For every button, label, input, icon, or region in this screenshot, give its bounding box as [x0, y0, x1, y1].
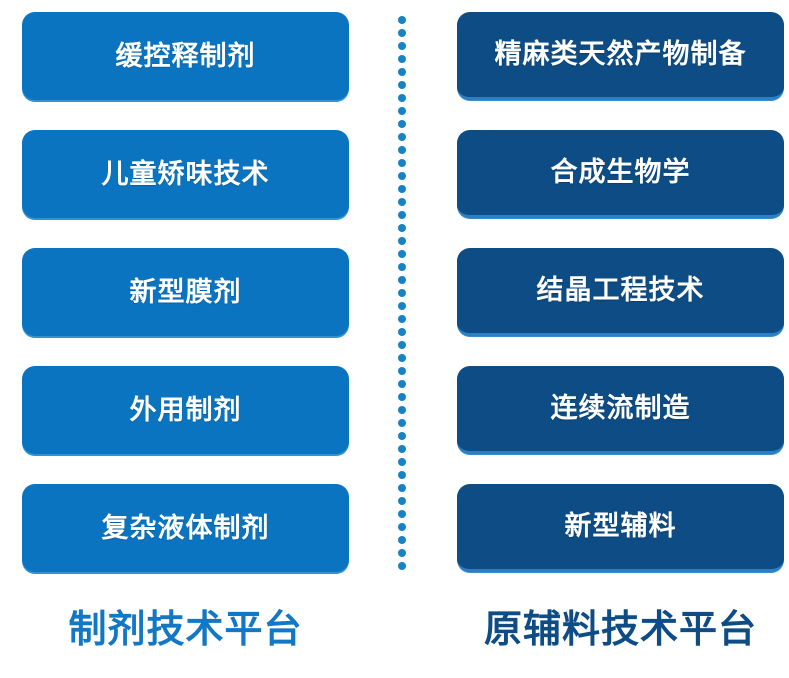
node-stack-right: 精麻类天然产物制备 合成生物学 结晶工程技术 连续流制造 新型辅料 [457, 12, 784, 572]
divider-dot [398, 198, 406, 206]
node-left-1-label: 缓控释制剂 [116, 39, 256, 74]
node-left-2[interactable]: 儿童矫味技术 [22, 130, 349, 218]
divider-dot [398, 159, 406, 167]
divider-dot [398, 133, 406, 141]
title-formulation-technology-platform: 制剂技术平台 [22, 598, 349, 653]
divider-dot [398, 562, 406, 570]
divider-dot [398, 107, 406, 115]
divider-dot [398, 510, 406, 518]
divider-dot [398, 120, 406, 128]
divider-dot [398, 536, 406, 544]
node-right-4[interactable]: 连续流制造 [457, 366, 784, 454]
divider-dot [398, 224, 406, 232]
divider-dot [398, 68, 406, 76]
divider-dot [398, 380, 406, 388]
divider-dot [398, 471, 406, 479]
node-left-1[interactable]: 缓控释制剂 [22, 12, 349, 100]
divider-dot [398, 497, 406, 505]
divider-dot [398, 211, 406, 219]
node-left-5-label: 复杂液体制剂 [102, 511, 270, 546]
divider-dot [398, 315, 406, 323]
divider-dot [398, 172, 406, 180]
title-raw-and-excipient-technology-platform: 原辅料技术平台 [448, 598, 789, 653]
divider-dot [398, 367, 406, 375]
divider-dot [398, 250, 406, 258]
divider-dot [398, 29, 406, 37]
dotted-vertical-divider [398, 16, 406, 566]
node-right-2-label: 合成生物学 [551, 155, 691, 190]
divider-dot [398, 445, 406, 453]
divider-dot [398, 276, 406, 284]
divider-dot [398, 55, 406, 63]
divider-dot [398, 42, 406, 50]
divider-dot [398, 354, 406, 362]
node-left-4[interactable]: 外用制剂 [22, 366, 349, 454]
node-left-5[interactable]: 复杂液体制剂 [22, 484, 349, 572]
node-right-1-label: 精麻类天然产物制备 [495, 37, 747, 72]
node-right-2[interactable]: 合成生物学 [457, 130, 784, 218]
divider-dot [398, 263, 406, 271]
node-left-4-label: 外用制剂 [130, 393, 242, 428]
divider-dot [398, 328, 406, 336]
node-right-3-label: 结晶工程技术 [537, 273, 705, 308]
node-left-3-label: 新型膜剂 [130, 275, 242, 310]
node-left-2-label: 儿童矫味技术 [102, 157, 270, 192]
divider-dot [398, 289, 406, 297]
divider-dot [398, 16, 406, 24]
divider-dot [398, 94, 406, 102]
node-right-5-label: 新型辅料 [565, 509, 677, 544]
diagram-canvas: 缓控释制剂 儿童矫味技术 新型膜剂 外用制剂 复杂液体制剂 精麻类天然产物制备 … [0, 0, 789, 678]
node-right-4-label: 连续流制造 [551, 391, 691, 426]
node-right-5[interactable]: 新型辅料 [457, 484, 784, 572]
divider-dot [398, 393, 406, 401]
divider-dot [398, 458, 406, 466]
node-right-1[interactable]: 精麻类天然产物制备 [457, 12, 784, 100]
divider-dot [398, 341, 406, 349]
divider-dot [398, 419, 406, 427]
node-right-3[interactable]: 结晶工程技术 [457, 248, 784, 336]
divider-dot [398, 302, 406, 310]
divider-dot [398, 81, 406, 89]
divider-dot [398, 549, 406, 557]
divider-dot [398, 146, 406, 154]
divider-dot [398, 237, 406, 245]
divider-dot [398, 523, 406, 531]
divider-dot [398, 185, 406, 193]
divider-dot [398, 432, 406, 440]
node-left-3[interactable]: 新型膜剂 [22, 248, 349, 336]
divider-dot [398, 484, 406, 492]
node-stack-left: 缓控释制剂 儿童矫味技术 新型膜剂 外用制剂 复杂液体制剂 [22, 12, 349, 572]
divider-dot [398, 406, 406, 414]
